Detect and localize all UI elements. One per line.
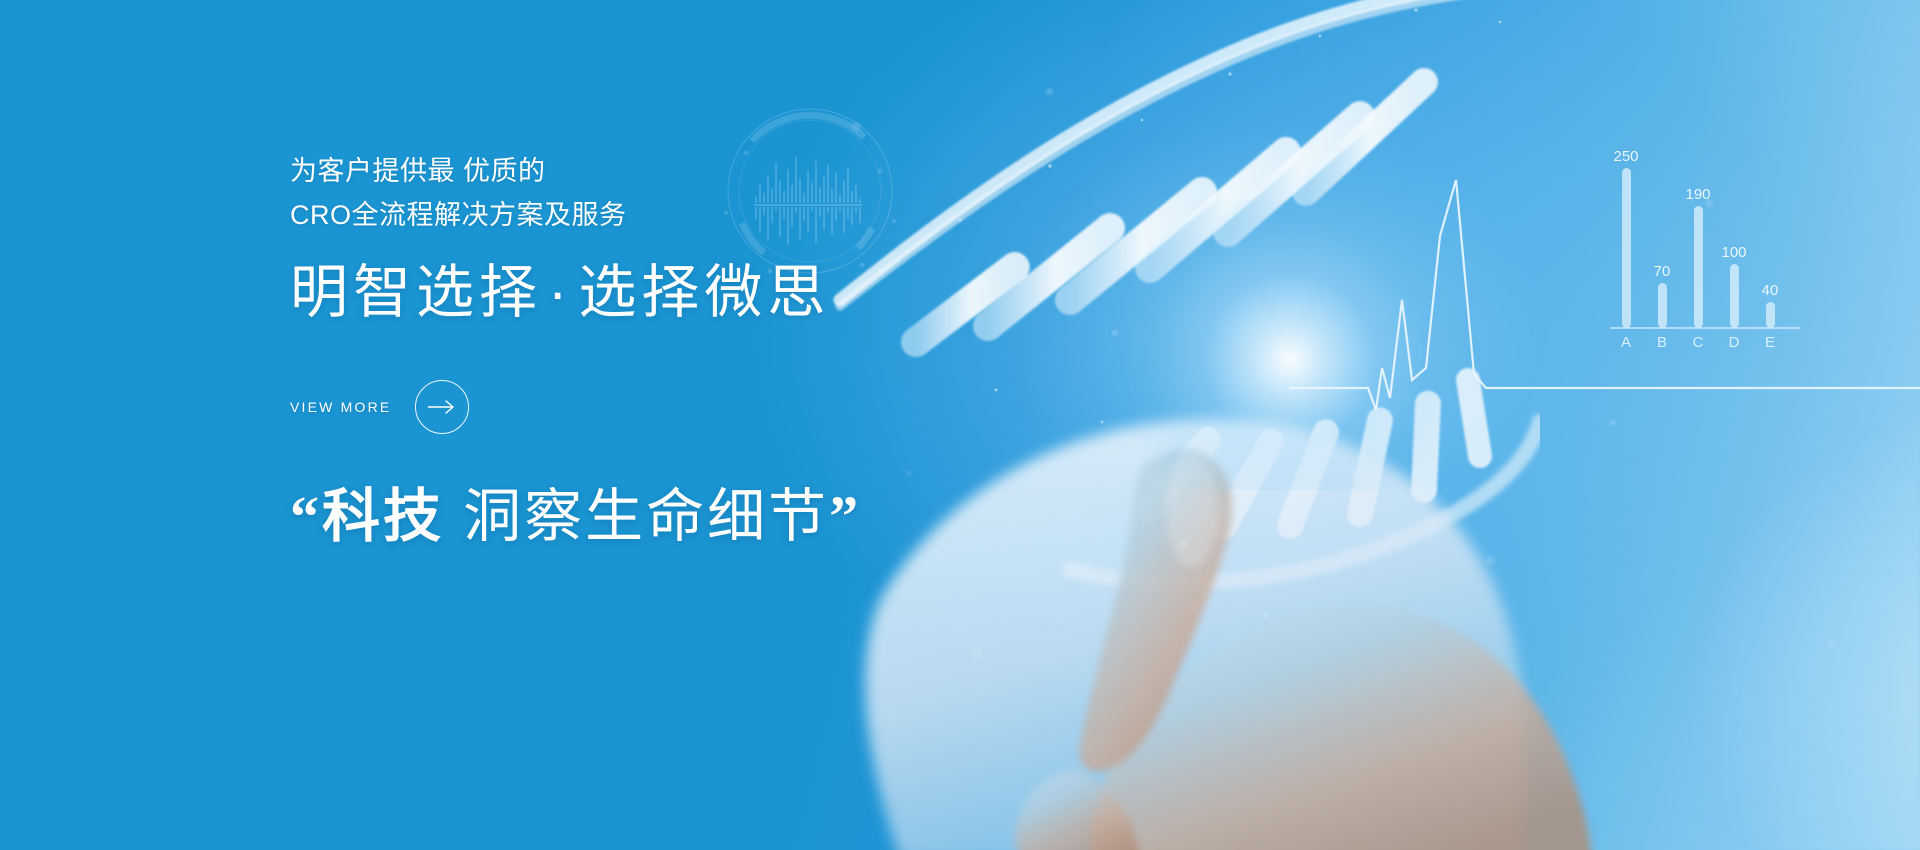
hero-headline: 明智选择·选择微思	[290, 261, 1310, 325]
bar-value-D: 100	[1721, 244, 1746, 261]
ecg-waveform-icon	[1290, 180, 1920, 410]
quote-strong-text: 科技	[322, 484, 444, 549]
bar-D	[1730, 264, 1739, 328]
quote-open-mark: “	[290, 484, 322, 549]
bar-E	[1766, 302, 1775, 328]
bar-C	[1694, 206, 1703, 328]
bar-value-A: 250	[1613, 148, 1638, 165]
hero-quote: “科技 洞察生命细节”	[290, 484, 1310, 551]
telemetry-overlay: 250 70 190 100 40 A B C D E	[1290, 120, 1920, 410]
bar-value-B: 70	[1654, 263, 1671, 280]
bar-cat-A: A	[1621, 334, 1631, 351]
bar-value-E: 40	[1762, 282, 1779, 299]
hero-content: 为客户提供最 优质的 CRO全流程解决方案及服务 明智选择·选择微思 VIEW …	[290, 150, 1310, 551]
headline-right-text: 选择微思	[578, 260, 830, 325]
quote-close-mark: ”	[829, 484, 861, 549]
bar-A	[1622, 168, 1631, 328]
view-more-label: VIEW MORE	[290, 399, 391, 415]
arrow-right-icon[interactable]	[415, 380, 469, 434]
bar-B	[1658, 283, 1667, 328]
hero-subtitle-line1: 为客户提供最 优质的	[290, 150, 1310, 194]
headline-left-text: 明智选择	[290, 260, 542, 325]
bar-cat-C: C	[1693, 334, 1704, 351]
bar-cat-E: E	[1765, 334, 1775, 351]
hero-banner: 250 70 190 100 40 A B C D E	[0, 0, 1920, 850]
bar-cat-B: B	[1657, 334, 1667, 351]
bar-chart: 250 70 190 100 40 A B C D E	[1610, 148, 1800, 351]
hero-subtitle-line2: CRO全流程解决方案及服务	[290, 194, 1310, 238]
headline-separator: ·	[542, 260, 578, 325]
bar-cat-D: D	[1729, 334, 1740, 351]
bar-value-C: 190	[1685, 186, 1710, 203]
view-more-button[interactable]: VIEW MORE	[290, 380, 469, 434]
quote-light-text: 洞察生命细节	[444, 484, 829, 549]
